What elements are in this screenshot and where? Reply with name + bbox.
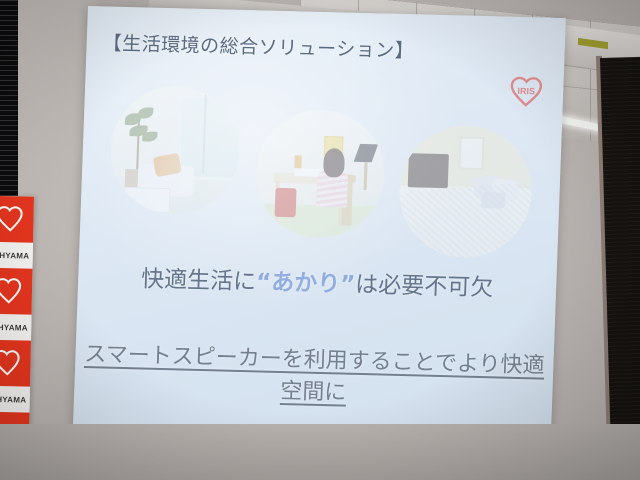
projection-screen: 【生活環境の総合ソリューション】 IRIS: [0, 0, 640, 480]
tagline-quote-close: ”: [340, 271, 356, 297]
slide-surface: 【生活環境の総合ソリューション】 IRIS: [73, 6, 566, 450]
tagline-highlight: あかり: [271, 270, 341, 298]
photo-living-room: [109, 85, 242, 216]
tagline-text-after: は必要不可欠: [355, 272, 494, 301]
tagline-secondary: スマートスピーカーを利用することでより快適空間に: [74, 336, 554, 412]
tagline-quote-open: “: [256, 269, 272, 295]
photo-of-projected-slide: OHYAMA OHYAMA OHYAMA 【生活環境の総合ソリューション】: [0, 0, 640, 480]
bottom-wall: [0, 424, 640, 480]
photo-circle-group: [102, 79, 548, 250]
photo-child-studying: [254, 108, 387, 239]
tagline-primary: 快適生活に“あかり”は必要不可欠: [78, 258, 557, 304]
photo-bedroom: [397, 124, 534, 259]
tagline-text-before: 快適生活に: [141, 266, 257, 295]
page-title: 【生活環境の総合ソリューション】: [102, 28, 414, 63]
